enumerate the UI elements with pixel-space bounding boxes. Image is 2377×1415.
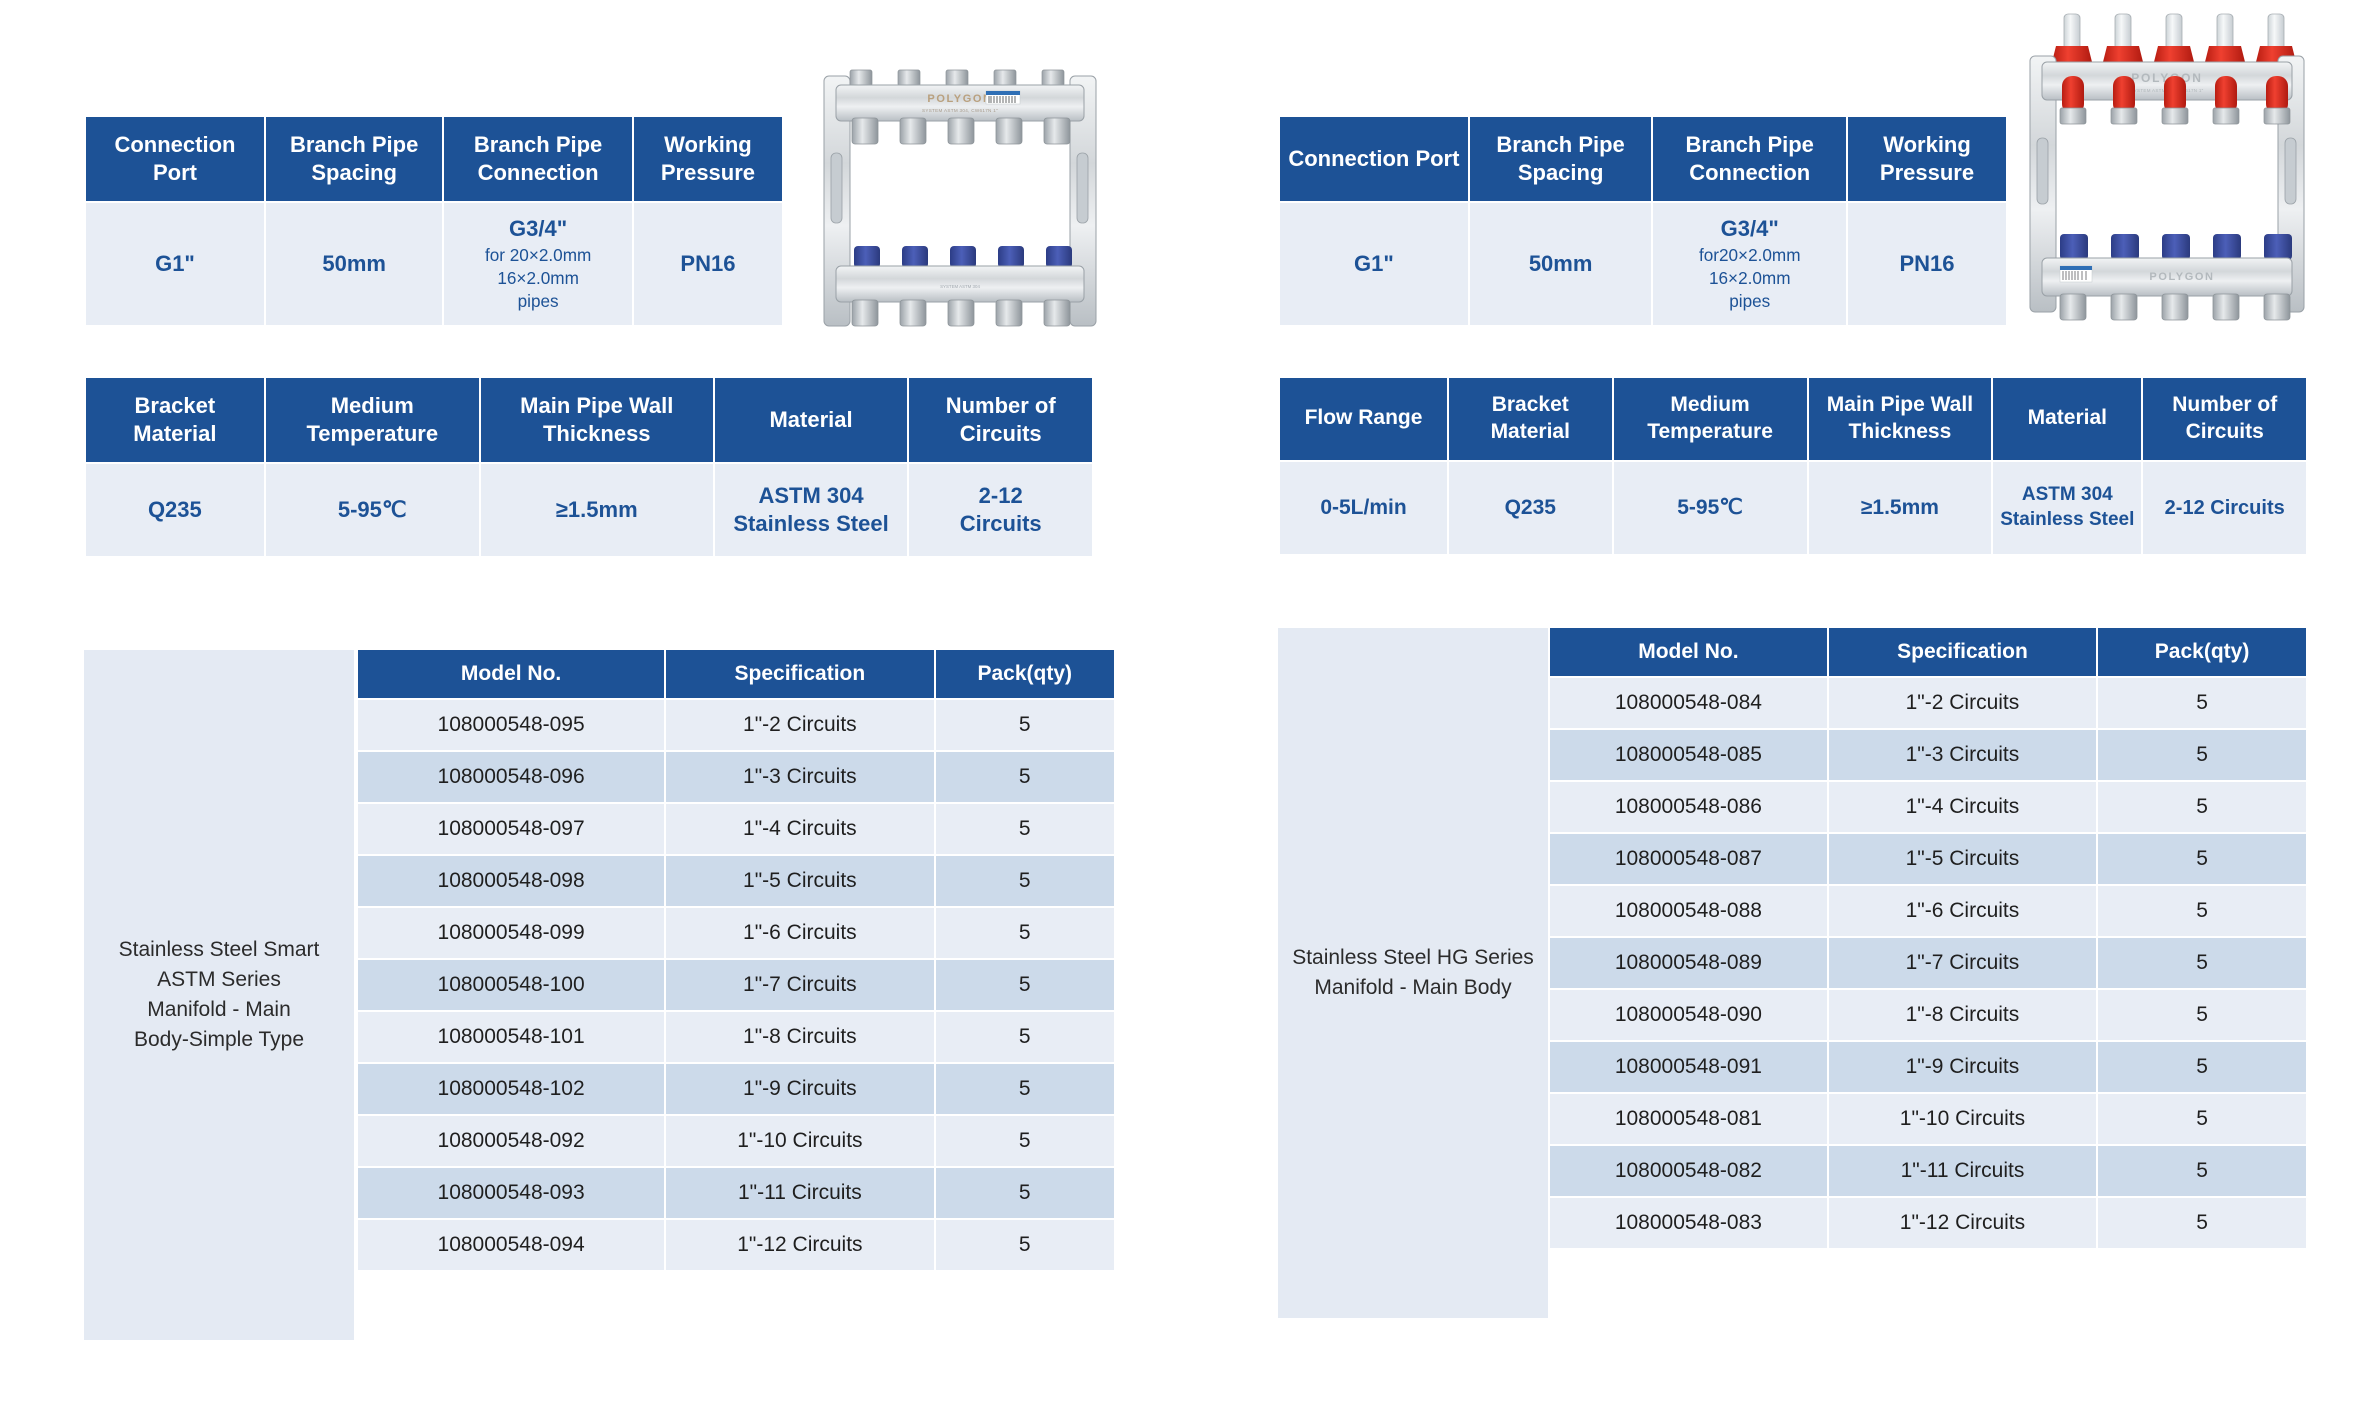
cell-model-no: 108000548-091 xyxy=(1550,1042,1827,1092)
branch-connection-sub-1: for20×2.0mm xyxy=(1659,244,1840,267)
branch-connection-sub-3: pipes xyxy=(1659,290,1840,313)
table-row: 108000548-0821"-11 Circuits5 xyxy=(1550,1146,2306,1196)
cell-model-no: 108000548-081 xyxy=(1550,1094,1827,1144)
cell-specification: 1"-5 Circuits xyxy=(666,856,933,906)
col-connection-port: Connection Port xyxy=(1280,117,1468,201)
cell-branch-pipe-connection: G3/4" for20×2.0mm 16×2.0mm pipes xyxy=(1653,203,1846,325)
cell-medium-temperature: 5-95℃ xyxy=(1614,462,1807,554)
cell-model-no: 108000548-082 xyxy=(1550,1146,1827,1196)
label-line: Body-Simple Type xyxy=(119,1025,320,1055)
cell-specification: 1"-4 Circuits xyxy=(666,804,933,854)
cell-material: ASTM 304 Stainless Steel xyxy=(1993,462,2141,554)
table-row: 108000548-0861"-4 Circuits5 xyxy=(1550,782,2306,832)
cell-model-no: 108000548-097 xyxy=(358,804,664,854)
cell-bracket-material: Q235 xyxy=(86,464,264,556)
label-line: Manifold - Main xyxy=(119,995,320,1025)
table-header-row: Model No. Specification Pack(qty) xyxy=(358,650,1114,698)
table-row: 108000548-0811"-10 Circuits5 xyxy=(1550,1094,2306,1144)
cell-specification: 1"-9 Circuits xyxy=(1829,1042,2096,1092)
product-spec-sheet: POLYGON SYSTEM ASTM 304, CW617N 1" xyxy=(0,0,2377,1415)
col-pack-qty: Pack(qty) xyxy=(2098,628,2306,676)
cell-material: ASTM 304 Stainless Steel xyxy=(715,464,908,556)
cell-specification: 1"-10 Circuits xyxy=(1829,1094,2096,1144)
cell-pack-qty: 5 xyxy=(936,1012,1114,1062)
cell-model-no: 108000548-098 xyxy=(358,856,664,906)
cell-pack-qty: 5 xyxy=(2098,990,2306,1040)
table-row: 0-5L/min Q235 5-95℃ ≥1.5mm ASTM 304 Stai… xyxy=(1280,462,2306,554)
left-spec-table-secondary: Bracket Material Medium Temperature Main… xyxy=(84,376,1094,558)
col-model-no: Model No. xyxy=(1550,628,1827,676)
circuits-line-2: Circuits xyxy=(960,511,1042,536)
cell-specification: 1"-3 Circuits xyxy=(666,752,933,802)
col-bracket-material: Bracket Material xyxy=(86,378,264,462)
table-row: 108000548-0841"-2 Circuits5 xyxy=(1550,678,2306,728)
table-row: 108000548-0891"-7 Circuits5 xyxy=(1550,938,2306,988)
col-main-pipe-wall-thickness: Main Pipe Wall Thickness xyxy=(1809,378,1992,460)
col-bracket-material: Bracket Material xyxy=(1449,378,1612,460)
col-material: Material xyxy=(1993,378,2141,460)
cell-connection-port: G1" xyxy=(1280,203,1468,325)
cell-specification: 1"-7 Circuits xyxy=(666,960,933,1010)
table-header-row: Bracket Material Medium Temperature Main… xyxy=(86,378,1092,462)
cell-pack-qty: 5 xyxy=(2098,938,2306,988)
table-row: 108000548-0881"-6 Circuits5 xyxy=(1550,886,2306,936)
right-model-table-body: 108000548-0841"-2 Circuits5108000548-085… xyxy=(1550,678,2306,1248)
col-branch-pipe-spacing: Branch Pipe Spacing xyxy=(266,117,442,201)
right-product-photo: POLYGON SYSTEM ASTM 304 CW617N 1" xyxy=(2012,8,2322,348)
cell-specification: 1"-8 Circuits xyxy=(1829,990,2096,1040)
cell-model-no: 108000548-083 xyxy=(1550,1198,1827,1248)
cell-specification: 1"-6 Circuits xyxy=(1829,886,2096,936)
svg-text:POLYGON: POLYGON xyxy=(2149,271,2214,283)
cell-pack-qty: 5 xyxy=(936,700,1114,750)
cell-pack-qty: 5 xyxy=(936,1168,1114,1218)
cell-pack-qty: 5 xyxy=(936,804,1114,854)
table-row: 108000548-0961"-3 Circuits5 xyxy=(358,752,1114,802)
cell-model-no: 108000548-093 xyxy=(358,1168,664,1218)
cell-model-no: 108000548-086 xyxy=(1550,782,1827,832)
table-header-row: Connection Port Branch Pipe Spacing Bran… xyxy=(1280,117,2006,201)
cell-main-pipe-wall-thickness: ≥1.5mm xyxy=(1809,462,1992,554)
cell-specification: 1"-3 Circuits xyxy=(1829,730,2096,780)
cell-specification: 1"-11 Circuits xyxy=(666,1168,933,1218)
left-spec-table-primary: Connection Port Branch Pipe Spacing Bran… xyxy=(84,115,784,327)
right-spec-table-primary: Connection Port Branch Pipe Spacing Bran… xyxy=(1278,115,2008,327)
col-working-pressure: Working Pressure xyxy=(634,117,782,201)
material-line-2: Stainless Steel xyxy=(2000,509,2134,530)
branch-connection-sub-2: 16×2.0mm xyxy=(1659,267,1840,290)
cell-pack-qty: 5 xyxy=(936,752,1114,802)
cell-pack-qty: 5 xyxy=(2098,678,2306,728)
cell-pack-qty: 5 xyxy=(936,1064,1114,1114)
cell-specification: 1"-4 Circuits xyxy=(1829,782,2096,832)
right-model-table-label: Stainless Steel HG Series Manifold - Mai… xyxy=(1278,628,1548,1318)
table-row: 108000548-1001"-7 Circuits5 xyxy=(358,960,1114,1010)
col-specification: Specification xyxy=(1829,628,2096,676)
cell-specification: 1"-2 Circuits xyxy=(1829,678,2096,728)
material-line-2: Stainless Steel xyxy=(733,511,888,536)
cell-pack-qty: 5 xyxy=(936,960,1114,1010)
table-row: 108000548-1011"-8 Circuits5 xyxy=(358,1012,1114,1062)
cell-flow-range: 0-5L/min xyxy=(1280,462,1447,554)
cell-pack-qty: 5 xyxy=(936,1220,1114,1270)
cell-working-pressure: PN16 xyxy=(634,203,782,325)
table-row: 108000548-0901"-8 Circuits5 xyxy=(1550,990,2306,1040)
label-line: Stainless Steel Smart xyxy=(119,935,320,965)
label-line: ASTM Series xyxy=(119,965,320,995)
label-line: Stainless Steel HG Series xyxy=(1292,943,1534,973)
cell-model-no: 108000548-099 xyxy=(358,908,664,958)
col-medium-temperature: Medium Temperature xyxy=(266,378,479,462)
material-line-1: ASTM 304 xyxy=(2022,484,2113,505)
cell-specification: 1"-2 Circuits xyxy=(666,700,933,750)
branch-connection-main: G3/4" xyxy=(1721,216,1779,241)
cell-bracket-material: Q235 xyxy=(1449,462,1612,554)
cell-pack-qty: 5 xyxy=(2098,730,2306,780)
cell-working-pressure: PN16 xyxy=(1848,203,2006,325)
cell-model-no: 108000548-100 xyxy=(358,960,664,1010)
table-row: 108000548-0871"-5 Circuits5 xyxy=(1550,834,2306,884)
svg-text:SYSTEM ASTM 304: SYSTEM ASTM 304 xyxy=(940,284,980,289)
cell-pack-qty: 5 xyxy=(936,908,1114,958)
left-model-table: Model No. Specification Pack(qty) 108000… xyxy=(356,648,1116,1272)
table-row: 108000548-0831"-12 Circuits5 xyxy=(1550,1198,2306,1248)
table-header-row: Flow Range Bracket Material Medium Tempe… xyxy=(1280,378,2306,460)
branch-connection-main: G3/4" xyxy=(509,216,567,241)
table-row: 108000548-0951"-2 Circuits5 xyxy=(358,700,1114,750)
cell-branch-pipe-spacing: 50mm xyxy=(1470,203,1652,325)
cell-model-no: 108000548-084 xyxy=(1550,678,1827,728)
table-row: Q235 5-95℃ ≥1.5mm ASTM 304 Stainless Ste… xyxy=(86,464,1092,556)
col-flow-range: Flow Range xyxy=(1280,378,1447,460)
cell-pack-qty: 5 xyxy=(2098,1146,2306,1196)
branch-connection-sub-1: for 20×2.0mm xyxy=(450,244,626,267)
table-header-row: Connection Port Branch Pipe Spacing Bran… xyxy=(86,117,782,201)
circuits-line-1: 2-12 xyxy=(979,483,1023,508)
table-row: 108000548-0991"-6 Circuits5 xyxy=(358,908,1114,958)
label-line: Manifold - Main Body xyxy=(1292,973,1534,1003)
table-row: G1" 50mm G3/4" for20×2.0mm 16×2.0mm pipe… xyxy=(1280,203,2006,325)
cell-model-no: 108000548-096 xyxy=(358,752,664,802)
cell-pack-qty: 5 xyxy=(936,856,1114,906)
cell-model-no: 108000548-095 xyxy=(358,700,664,750)
cell-pack-qty: 5 xyxy=(2098,1094,2306,1144)
cell-medium-temperature: 5-95℃ xyxy=(266,464,479,556)
cell-model-no: 108000548-092 xyxy=(358,1116,664,1166)
right-model-table: Model No. Specification Pack(qty) 108000… xyxy=(1548,626,2308,1250)
cell-model-no: 108000548-089 xyxy=(1550,938,1827,988)
cell-model-no: 108000548-101 xyxy=(358,1012,664,1062)
right-spec-table-secondary: Flow Range Bracket Material Medium Tempe… xyxy=(1278,376,2308,556)
cell-specification: 1"-11 Circuits xyxy=(1829,1146,2096,1196)
col-model-no: Model No. xyxy=(358,650,664,698)
col-material: Material xyxy=(715,378,908,462)
cell-specification: 1"-6 Circuits xyxy=(666,908,933,958)
table-row: 108000548-1021"-9 Circuits5 xyxy=(358,1064,1114,1114)
col-branch-pipe-connection: Branch Pipe Connection xyxy=(1653,117,1846,201)
cell-branch-pipe-connection: G3/4" for 20×2.0mm 16×2.0mm pipes xyxy=(444,203,632,325)
left-model-table-body: 108000548-0951"-2 Circuits5108000548-096… xyxy=(358,700,1114,1270)
cell-model-no: 108000548-094 xyxy=(358,1220,664,1270)
col-pack-qty: Pack(qty) xyxy=(936,650,1114,698)
table-row: 108000548-0911"-9 Circuits5 xyxy=(1550,1042,2306,1092)
cell-specification: 1"-5 Circuits xyxy=(1829,834,2096,884)
table-row: 108000548-0971"-4 Circuits5 xyxy=(358,804,1114,854)
cell-specification: 1"-10 Circuits xyxy=(666,1116,933,1166)
cell-branch-pipe-spacing: 50mm xyxy=(266,203,442,325)
col-branch-pipe-spacing: Branch Pipe Spacing xyxy=(1470,117,1652,201)
cell-model-no: 108000548-090 xyxy=(1550,990,1827,1040)
col-specification: Specification xyxy=(666,650,933,698)
cell-pack-qty: 5 xyxy=(2098,1042,2306,1092)
table-row: 108000548-0921"-10 Circuits5 xyxy=(358,1116,1114,1166)
col-connection-port: Connection Port xyxy=(86,117,264,201)
cell-pack-qty: 5 xyxy=(2098,782,2306,832)
branch-connection-sub-2: 16×2.0mm xyxy=(450,267,626,290)
table-row: 108000548-0851"-3 Circuits5 xyxy=(1550,730,2306,780)
cell-main-pipe-wall-thickness: ≥1.5mm xyxy=(481,464,713,556)
cell-pack-qty: 5 xyxy=(2098,886,2306,936)
col-medium-temperature: Medium Temperature xyxy=(1614,378,1807,460)
cell-model-no: 108000548-088 xyxy=(1550,886,1827,936)
table-row: 108000548-0941"-12 Circuits5 xyxy=(358,1220,1114,1270)
cell-pack-qty: 5 xyxy=(2098,1198,2306,1248)
cell-specification: 1"-12 Circuits xyxy=(666,1220,933,1270)
cell-number-of-circuits: 2-12 Circuits xyxy=(2143,462,2306,554)
table-header-row: Model No. Specification Pack(qty) xyxy=(1550,628,2306,676)
cell-model-no: 108000548-087 xyxy=(1550,834,1827,884)
col-working-pressure: Working Pressure xyxy=(1848,117,2006,201)
cell-specification: 1"-12 Circuits xyxy=(1829,1198,2096,1248)
col-number-of-circuits: Number of Circuits xyxy=(909,378,1092,462)
cell-specification: 1"-8 Circuits xyxy=(666,1012,933,1062)
cell-pack-qty: 5 xyxy=(2098,834,2306,884)
col-branch-pipe-connection: Branch Pipe Connection xyxy=(444,117,632,201)
left-product-photo: POLYGON SYSTEM ASTM 304, CW617N 1" xyxy=(810,58,1110,348)
col-number-of-circuits: Number of Circuits xyxy=(2143,378,2306,460)
cell-pack-qty: 5 xyxy=(936,1116,1114,1166)
material-line-1: ASTM 304 xyxy=(758,483,863,508)
table-row: 108000548-0931"-11 Circuits5 xyxy=(358,1168,1114,1218)
cell-specification: 1"-7 Circuits xyxy=(1829,938,2096,988)
branch-connection-sub-3: pipes xyxy=(450,290,626,313)
col-main-pipe-wall-thickness: Main Pipe Wall Thickness xyxy=(481,378,713,462)
cell-number-of-circuits: 2-12 Circuits xyxy=(909,464,1092,556)
table-row: G1" 50mm G3/4" for 20×2.0mm 16×2.0mm pip… xyxy=(86,203,782,325)
left-model-table-label: Stainless Steel Smart ASTM Series Manifo… xyxy=(84,650,354,1340)
cell-connection-port: G1" xyxy=(86,203,264,325)
svg-text:SYSTEM ASTM 304, CW617N 1": SYSTEM ASTM 304, CW617N 1" xyxy=(922,108,998,113)
svg-text:POLYGON: POLYGON xyxy=(927,93,992,105)
cell-specification: 1"-9 Circuits xyxy=(666,1064,933,1114)
cell-model-no: 108000548-085 xyxy=(1550,730,1827,780)
table-row: 108000548-0981"-5 Circuits5 xyxy=(358,856,1114,906)
cell-model-no: 108000548-102 xyxy=(358,1064,664,1114)
